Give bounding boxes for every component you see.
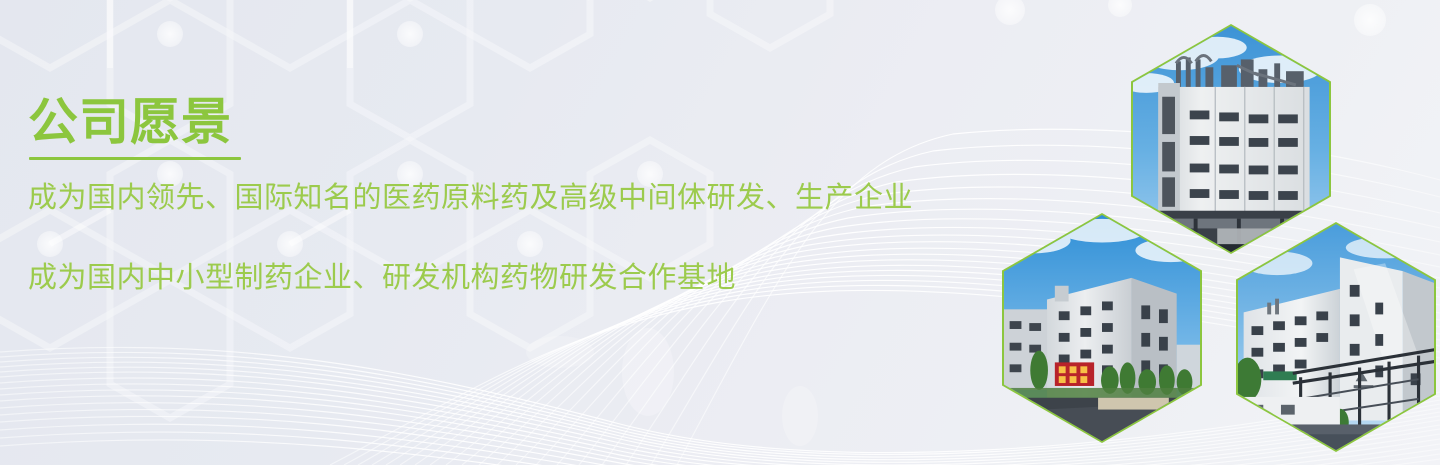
vision-copy-block: 公司愿景 成为国内领先、国际知名的医药原料药及高级中间体研发、生产企业 成为国内…: [28, 96, 913, 296]
vision-statement-line-2: 成为国内中小型制药企业、研发机构药物研发合作基地: [28, 254, 913, 296]
vision-statement-line-1: 成为国内领先、国际知名的医药原料药及高级中间体研发、生产企业: [28, 174, 913, 216]
production-building-with-led-sign-photo: [1004, 215, 1200, 441]
hexagon-photo-plant-workshop[interactable]: [1131, 24, 1331, 254]
pharmaceutical-plant-workshop-photo: [1133, 26, 1329, 252]
hexagon-clip-frame: [1238, 224, 1434, 450]
company-vision-banner: 公司愿景 成为国内领先、国际知名的医药原料药及高级中间体研发、生产企业 成为国内…: [0, 0, 1440, 465]
hexagon-clip-frame: [1133, 26, 1329, 252]
title-underline-rule: [29, 157, 241, 160]
hexagon-clip-frame: [1004, 215, 1200, 441]
factory-building-with-pipe-rack-photo: [1238, 224, 1434, 450]
hexagon-photo-production-building[interactable]: [1002, 213, 1202, 443]
page-title: 公司愿景: [28, 96, 238, 155]
hexagon-photo-factory-pipe-rack[interactable]: [1236, 222, 1436, 452]
